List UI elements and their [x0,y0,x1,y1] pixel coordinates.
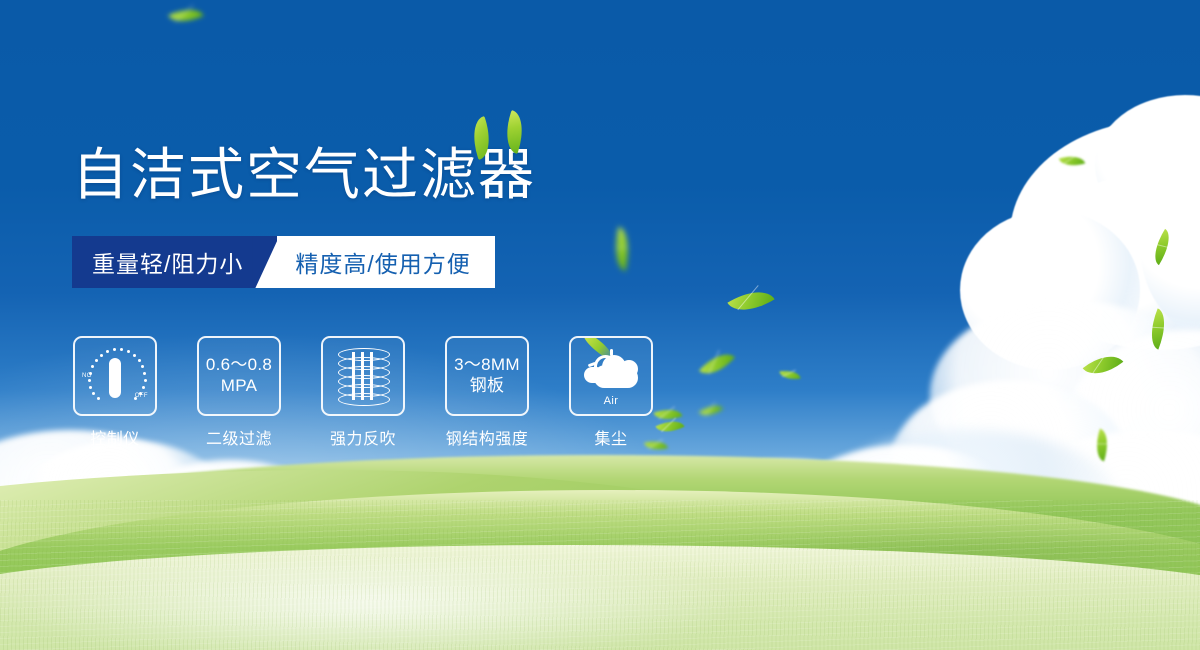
air-label: Air [580,395,642,407]
gauge-label-off: OFF [135,393,148,399]
feature-label: 控制仪 [90,425,140,449]
gauge-label-no: NO [82,373,92,379]
subtitle-bar: 重量轻/阻力小 精度高/使用方便 [72,236,495,288]
feature-icon-box: 3～8MM 钢板 [445,336,529,416]
steel-plate-text-icon: 3～8MM 钢板 [454,355,520,396]
feature-item-steel-strength[interactable]: 3～8MM 钢板 钢结构强度 [446,336,528,449]
feature-icon-box [321,336,405,416]
leaf-icon [699,400,723,421]
leaf-icon [699,345,735,382]
leaf-icon [1143,308,1172,349]
gauge-needle-icon [109,358,121,398]
feature-icon-box: 0.6～0.8 MPA [197,336,281,416]
feature-label: 钢结构强度 [446,425,529,449]
leaf-icon [1091,429,1114,462]
coil-icon [338,348,388,404]
feature-icon-box: NO OFF [73,336,157,416]
cloud-shape [1095,95,1200,235]
pressure-unit: MPA [206,376,272,397]
leaf-icon [1083,346,1124,384]
feature-label: 强力反吹 [330,425,396,449]
feature-item-strong-blowback[interactable]: 强力反吹 [322,336,404,449]
cloud-shape [960,210,1140,370]
cloud-shape [1040,175,1200,345]
title-block: 自洁式空气过滤器 [72,145,536,204]
leaf-icon [1059,152,1085,170]
cloud-body-icon [594,365,638,388]
feature-label: 二级过滤 [206,425,272,449]
feature-label: 集尘 [594,425,627,449]
feature-item-two-stage-filter[interactable]: 0.6～0.8 MPA 二级过滤 [198,336,280,449]
cloud-shape [1010,120,1200,350]
leaf-icon [168,2,203,29]
leaf-icon [779,369,800,382]
leaf-icon [610,227,634,271]
feature-item-dust-collection[interactable]: Air 集尘 [570,336,652,449]
cloud-shape [930,300,1200,490]
grass-sheen [0,560,1200,650]
leaf-icon [727,281,774,322]
feature-icon-box: Air [569,336,653,416]
feature-item-control-gauge[interactable]: NO OFF 控制仪 [74,336,156,449]
subtitle-right-text: 精度高/使用方便 [277,236,494,288]
pressure-text-icon: 0.6～0.8 MPA [206,355,272,396]
leaf-icon [655,415,684,438]
subtitle-left-text: 重量轻/阻力小 [72,236,277,288]
feature-list: NO OFF 控制仪 0.6～0.8 MPA 二级过滤 [74,336,652,449]
air-cloud-icon: Air [580,347,642,405]
cloud-shape [1140,150,1200,340]
leaf-icon [1147,229,1177,265]
leaf-icon [654,404,683,425]
gauge-icon: NO OFF [82,345,148,407]
pressure-range: 0.6～0.8 [206,355,272,376]
steel-thickness: 3～8MM [454,355,520,376]
hero-banner: 自洁式空气过滤器 重量轻/阻力小 精度高/使用方便 [0,0,1200,650]
page-title: 自洁式空气过滤器 [72,145,536,204]
steel-material: 钢板 [454,376,520,397]
